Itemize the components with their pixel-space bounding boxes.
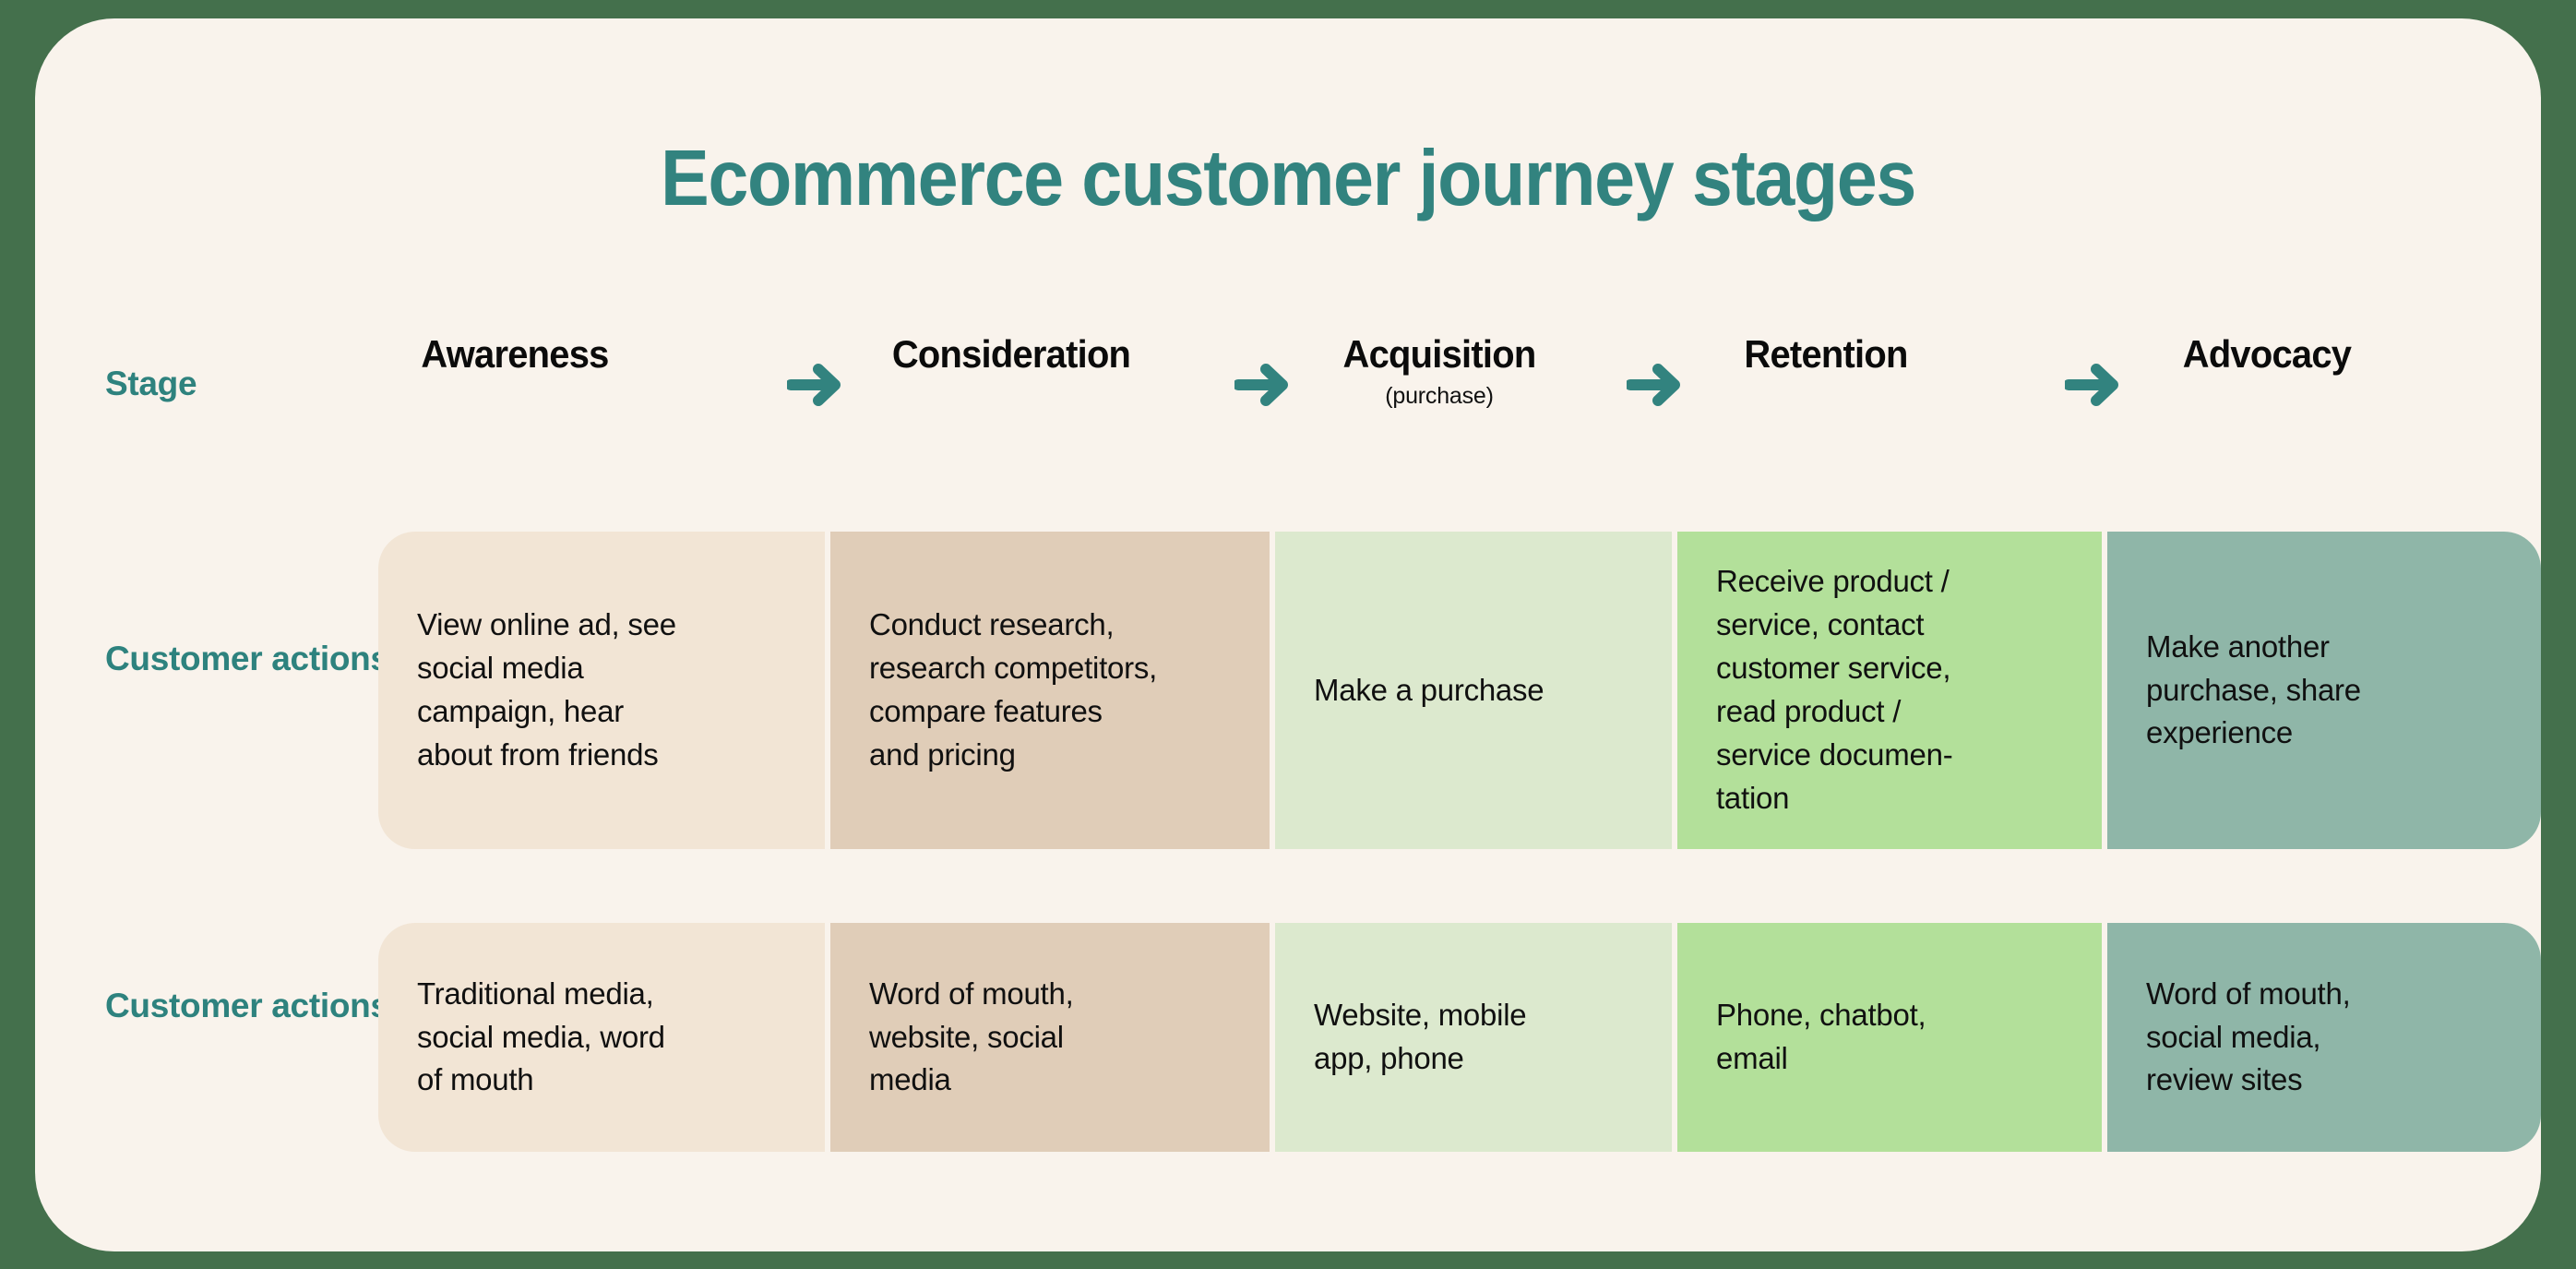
cell-awareness-touchpoints: Traditional media, social media, word of… [378,923,825,1152]
arrow-right-icon [2065,364,2122,406]
table-row: Customer actions View online ad, see soc… [35,532,2541,849]
stage-header-consideration: Consideration [856,332,1166,377]
cell-retention-actions: Receive product / service, contact custo… [1677,532,2102,849]
stage-header-label: Consideration [864,332,1158,377]
page-title: Ecommerce customer journey stages [123,134,2453,224]
cell-text: View online ad, see social media campaig… [417,604,676,776]
stage-header-acquisition: Acquisition (purchase) [1303,332,1576,410]
cell-text: Website, mobile app, phone [1314,994,1526,1081]
cell-consideration-touchpoints: Word of mouth, website, social media [830,923,1270,1152]
cell-retention-touchpoints: Phone, chatbot, email [1677,923,2102,1152]
row-label-customer-actions-2: Customer actions [105,986,391,1026]
stage-header-label: Acquisition [1309,332,1568,377]
stage-header-awareness: Awareness [378,332,651,377]
cell-text: Word of mouth, social media, review site… [2146,973,2351,1103]
cell-consideration-actions: Conduct research, research competitors, … [830,532,1270,849]
stage-header-retention: Retention [1694,332,1958,377]
cell-text: Traditional media, social media, word of… [417,973,665,1103]
cell-acquisition-actions: Make a purchase [1275,532,1672,849]
journey-card: Ecommerce customer journey stages Stage … [35,18,2541,1251]
table-row: Customer actions Traditional media, soci… [35,923,2541,1152]
cell-text: Conduct research, research competitors, … [869,604,1157,776]
cell-text: Make a purchase [1314,669,1544,712]
row-label-customer-actions: Customer actions [105,639,391,679]
stage-header-label: Advocacy [2138,332,2395,377]
stage-header-label: Retention [1700,332,1951,377]
stage-header-sublabel: (purchase) [1303,383,1576,410]
cell-acquisition-touchpoints: Website, mobile app, phone [1275,923,1672,1152]
arrow-right-icon [1627,364,1684,406]
header-row: Stage Awareness Consideration Acquisitio… [35,332,2541,487]
cell-text: Receive product / service, contact custo… [1716,560,1952,820]
cell-text: Phone, chatbot, email [1716,994,1926,1081]
arrow-right-icon [787,364,844,406]
cell-advocacy-touchpoints: Word of mouth, social media, review site… [2107,923,2541,1152]
arrow-right-icon [1234,364,1292,406]
cell-text: Word of mouth, website, social media [869,973,1074,1103]
journey-grid: Stage Awareness Consideration Acquisitio… [35,332,2541,1152]
stage-header-label: Awareness [385,332,644,377]
stage-row-label: Stage [105,364,391,404]
stage-header-advocacy: Advocacy [2131,332,2403,377]
cell-text: Make another purchase, share experience [2146,626,2361,756]
cell-awareness-actions: View online ad, see social media campaig… [378,532,825,849]
cell-advocacy-actions: Make another purchase, share experience [2107,532,2541,849]
